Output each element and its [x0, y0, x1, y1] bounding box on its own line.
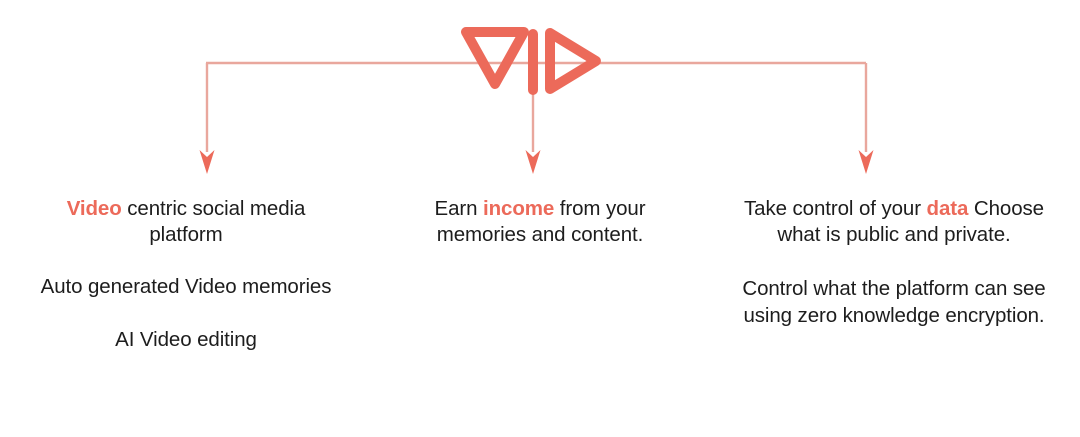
arrow-down-left [200, 150, 215, 174]
text-run-1: Control what the platform can see using … [742, 277, 1045, 326]
logo-triangle-play [550, 33, 596, 89]
text-run-1: AI Video editing [115, 328, 257, 351]
accent-word-income: income [483, 197, 554, 220]
feature-text-income-1: Earn income from your memories and conte… [394, 196, 686, 248]
logo-triangle-down [466, 32, 524, 84]
text-run-1: Take control of your [744, 197, 927, 220]
feature-text-data-1: Take control of your data Choose what is… [742, 196, 1046, 248]
feature-text-video-1: Video centric social media platform [36, 196, 336, 248]
arrow-down-center [526, 150, 541, 174]
feature-text-video-3: AI Video editing [36, 327, 336, 353]
infographic-root: Video centric social media platformAuto … [0, 0, 1080, 437]
vid-logo [452, 18, 612, 104]
feature-columns: Video centric social media platformAuto … [0, 196, 1080, 353]
feature-column-data: Take control of your data Choose what is… [708, 196, 1080, 329]
feature-column-video: Video centric social media platformAuto … [0, 196, 372, 353]
text-run-1: Auto generated Video memories [41, 275, 332, 298]
feature-column-income: Earn income from your memories and conte… [372, 196, 708, 248]
accent-word-data: data [927, 197, 969, 220]
feature-text-video-2: Auto generated Video memories [36, 274, 336, 300]
text-run-2: centric social media platform [122, 197, 306, 246]
feature-text-data-2: Control what the platform can see using … [742, 276, 1046, 328]
arrow-down-right [859, 150, 874, 174]
text-run-1: Earn [435, 197, 484, 220]
accent-word-video: Video [67, 197, 122, 220]
